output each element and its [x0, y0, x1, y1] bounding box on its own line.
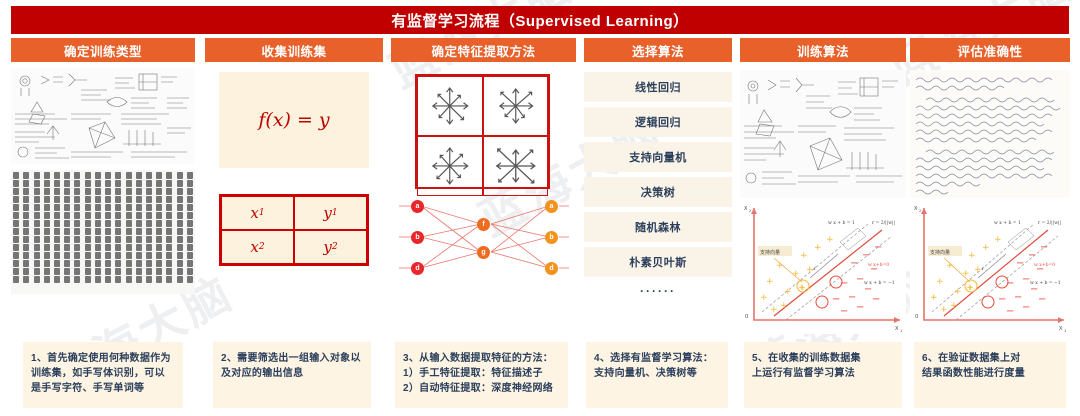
column-evaluate-accuracy: 评估准确性 — [910, 38, 1070, 416]
hog-cell — [483, 76, 549, 136]
svg-text:w x + b = 1: w x + b = 1 — [994, 220, 1021, 226]
svg-text:+: + — [784, 287, 792, 297]
svg-text:+: + — [950, 301, 958, 311]
nn-node-output-a: a — [545, 200, 558, 213]
svg-text:−: − — [832, 294, 840, 305]
svg-text:+: + — [930, 293, 938, 303]
function-formula: f(x) = y — [258, 109, 329, 131]
svg-text:+: + — [766, 277, 774, 287]
caption-5: 5、在收集的训练数据集 上运行有监督学习算法 — [744, 342, 902, 408]
column-header-2[interactable]: 收集训练集 — [205, 38, 383, 62]
svg-text:−: − — [1016, 258, 1024, 269]
caption-3-line-2: 1）手工特征提取：特征描述子 — [403, 366, 560, 381]
svg-text:+: + — [940, 305, 948, 315]
svg-text:−: − — [1040, 242, 1048, 253]
algorithm-item-random-forest[interactable]: 随机森林 — [584, 212, 732, 242]
hog-cell — [417, 136, 483, 196]
table-cell-x2: x2 — [221, 230, 294, 264]
svg-text:−: − — [1022, 302, 1030, 313]
column-body-6: X 2 X 1 0 +++ +++ +++ — [910, 68, 1070, 416]
svg-text:X: X — [1059, 326, 1063, 332]
svg-text:+: + — [806, 265, 814, 275]
svg-text:−: − — [862, 250, 870, 261]
algorithm-item-svm[interactable]: 支持向量机 — [584, 142, 732, 172]
handwritten-formula-image — [740, 70, 906, 198]
svg-text:r = 2/||w||: r = 2/||w|| — [872, 220, 895, 226]
svg-text:w x + b = 1: w x + b = 1 — [828, 220, 855, 226]
column-train-algorithm: 训练算法 — [740, 38, 906, 416]
algorithm-item-more: ······ — [584, 282, 732, 300]
svg-text:+: + — [968, 251, 976, 261]
column-header-3[interactable]: 确定特征提取方法 — [391, 38, 576, 62]
svm-margin-plot: X 2 X 1 0 +++ +++ +++ — [910, 202, 1070, 334]
caption-1: 1、首先确定使用何种数据作为训练集，如手写体识别，可以是手写字符、手写单词等 — [23, 342, 183, 408]
svg-text:w x + b = −1: w x + b = −1 — [1030, 280, 1061, 286]
svg-text:X: X — [914, 206, 918, 212]
svg-text:2: 2 — [919, 209, 921, 213]
column-body-5: X 2 X 1 0 +++ +++ +++ — [740, 68, 906, 416]
function-formula-box: f(x) = y — [219, 72, 369, 168]
svg-text:0: 0 — [745, 314, 748, 320]
algorithm-item-linear-regression[interactable]: 线性回归 — [584, 72, 732, 102]
column-determine-training-type: 确定训练类型 — [11, 38, 195, 416]
nn-node-hidden-f: f — [477, 218, 490, 231]
svg-text:+: + — [967, 283, 974, 292]
caption-2: 2、需要筛选出一组输入对象以及对应的输出信息 — [213, 342, 371, 408]
svg-text:−: − — [1006, 306, 1014, 317]
column-header-4[interactable]: 选择算法 — [584, 38, 732, 62]
svg-text:+: + — [760, 293, 768, 303]
caption-6-line-2: 结果函数性能进行度量 — [922, 366, 1058, 381]
column-header-1[interactable]: 确定训练类型 — [11, 38, 195, 62]
hog-cell — [417, 76, 483, 136]
svg-text:+: + — [800, 251, 808, 261]
svg-text:+: + — [826, 235, 834, 245]
algorithm-item-naive-bayes[interactable]: 朴素贝叶斯 — [584, 247, 732, 277]
svg-text:+: + — [780, 301, 788, 311]
nn-edges — [399, 196, 569, 278]
svg-text:−: − — [1038, 294, 1046, 305]
infographic-root: 蓝海大脑 蓝海大脑 蓝海大脑 蓝海大脑 蓝海大脑 有监督学习流程（Supervi… — [0, 0, 1080, 416]
caption-6: 6、在验证数据集上对 结果函数性能进行度量 — [914, 342, 1066, 408]
svg-text:−: − — [850, 258, 858, 269]
svg-text:−: − — [872, 294, 880, 305]
sub-2: 2 — [332, 242, 338, 252]
svg-text:1: 1 — [1064, 329, 1066, 333]
table-cell-y2: y2 — [294, 230, 367, 264]
algorithm-item-logistic-regression[interactable]: 逻辑回归 — [584, 107, 732, 137]
column-header-5[interactable]: 训练算法 — [740, 38, 906, 62]
svg-text:w x+b=0: w x+b=0 — [868, 262, 889, 268]
column-determine-feature-extraction: 确定特征提取方法 — [391, 38, 576, 416]
svg-text:w x+b=0: w x+b=0 — [1034, 262, 1055, 268]
caption-5-line-2: 上运行有监督学习算法 — [752, 366, 894, 381]
svg-text:+: + — [994, 235, 1002, 245]
neural-network-diagram: a b d f g a b d — [399, 196, 569, 278]
svg-text:+: + — [954, 287, 962, 297]
caption-3-line-3: 2）自动特征提取：深度神经网络 — [403, 381, 560, 396]
cursive-handwriting-image — [910, 70, 1070, 198]
svg-text:X: X — [895, 326, 899, 332]
page-title: 有监督学习流程（Supervised Learning） — [11, 6, 1069, 34]
column-body-4: 线性回归 逻辑回归 支持向量机 决策树 随机森林 朴素贝叶斯 ······ 4、… — [584, 68, 732, 416]
caption-4-line-2: 支持向量机、决策树等 — [594, 366, 720, 381]
nn-node-output-b: b — [545, 231, 558, 244]
svg-text:0: 0 — [915, 314, 918, 320]
svg-text:+: + — [814, 243, 822, 253]
svg-text:−: − — [1028, 250, 1036, 261]
caption-4: 4、选择有监督学习算法： 支持向量机、决策树等 — [586, 342, 728, 408]
svg-text:X: X — [744, 206, 748, 212]
svg-text:r: r — [982, 267, 985, 272]
column-body-2: f(x) = y x1 y1 x2 y2 2、需要筛选出一组输入对象以及对应的输… — [205, 68, 383, 416]
svg-text:+: + — [936, 277, 944, 287]
svg-text:−: − — [840, 306, 848, 317]
column-header-6[interactable]: 评估准确性 — [910, 38, 1070, 62]
svg-text:支持向量: 支持向量 — [760, 249, 780, 256]
handwritten-formula-image — [11, 68, 195, 164]
sub-1: 1 — [259, 208, 265, 218]
hog-descriptor-grid — [415, 74, 550, 189]
column-choose-algorithm: 选择算法 线性回归 逻辑回归 支持向量机 决策树 随机森林 朴素贝叶斯 ····… — [584, 38, 732, 416]
training-pairs-table: x1 y1 x2 y2 — [219, 194, 369, 266]
sub-1: 1 — [332, 208, 338, 218]
column-collect-training-set: 收集训练集 f(x) = y x1 y1 x2 y2 2、需要筛选出一组输入对象… — [205, 38, 383, 416]
caption-5-line-1: 5、在收集的训练数据集 — [752, 351, 894, 366]
table-cell-x1: x1 — [221, 196, 294, 230]
svg-text:2: 2 — [749, 209, 751, 213]
formula-scribbles — [11, 68, 195, 164]
algorithm-item-decision-tree[interactable]: 决策树 — [584, 177, 732, 207]
hog-cell — [483, 136, 549, 196]
svg-text:+: + — [974, 265, 982, 275]
svm-margin-plot: X 2 X 1 0 +++ +++ +++ — [740, 202, 906, 334]
table-cell-y1: y1 — [294, 196, 367, 230]
svg-text:+: + — [799, 283, 806, 292]
svg-text:−: − — [998, 294, 1006, 305]
sub-2: 2 — [259, 242, 265, 252]
nn-node-output-d: d — [545, 262, 558, 275]
caption-4-line-1: 4、选择有监督学习算法： — [594, 351, 720, 366]
caption-3: 3、从输入数据提取特征的方法： 1）手工特征提取：特征描述子 2）自动特征提取：… — [395, 342, 568, 408]
svg-text:1: 1 — [900, 329, 902, 333]
nn-node-input-a: a — [411, 200, 424, 213]
nn-node-input-d: d — [411, 262, 424, 275]
column-body-3: a b d f g a b d 3、从输入数据提取特征的方法： 1）手工特征提取… — [391, 68, 576, 416]
column-body-1: 1、首先确定使用何种数据作为训练集，如手写体识别，可以是手写字符、手写单词等 — [11, 68, 195, 416]
svg-text:支持向量: 支持向量 — [930, 249, 950, 256]
svg-text:+: + — [962, 269, 970, 279]
caption-3-line-1: 3、从输入数据提取特征的方法： — [403, 351, 560, 366]
svg-text:+: + — [770, 305, 778, 315]
svg-text:−: − — [856, 302, 864, 313]
svg-text:−: − — [874, 242, 882, 253]
svg-text:r: r — [814, 267, 817, 272]
algorithm-list: 线性回归 逻辑回归 支持向量机 决策树 随机森林 朴素贝叶斯 ······ — [584, 68, 732, 300]
nn-node-input-b: b — [411, 231, 424, 244]
svg-text:w x + b = −1: w x + b = −1 — [864, 280, 895, 286]
svg-text:r = 2/||w||: r = 2/||w|| — [1038, 220, 1061, 226]
svg-text:+: + — [982, 243, 990, 253]
calligraphy-columns — [11, 170, 195, 294]
caption-6-line-1: 6、在验证数据集上对 — [922, 351, 1058, 366]
chinese-calligraphy-image — [11, 170, 195, 294]
nn-node-hidden-g: g — [477, 246, 490, 259]
